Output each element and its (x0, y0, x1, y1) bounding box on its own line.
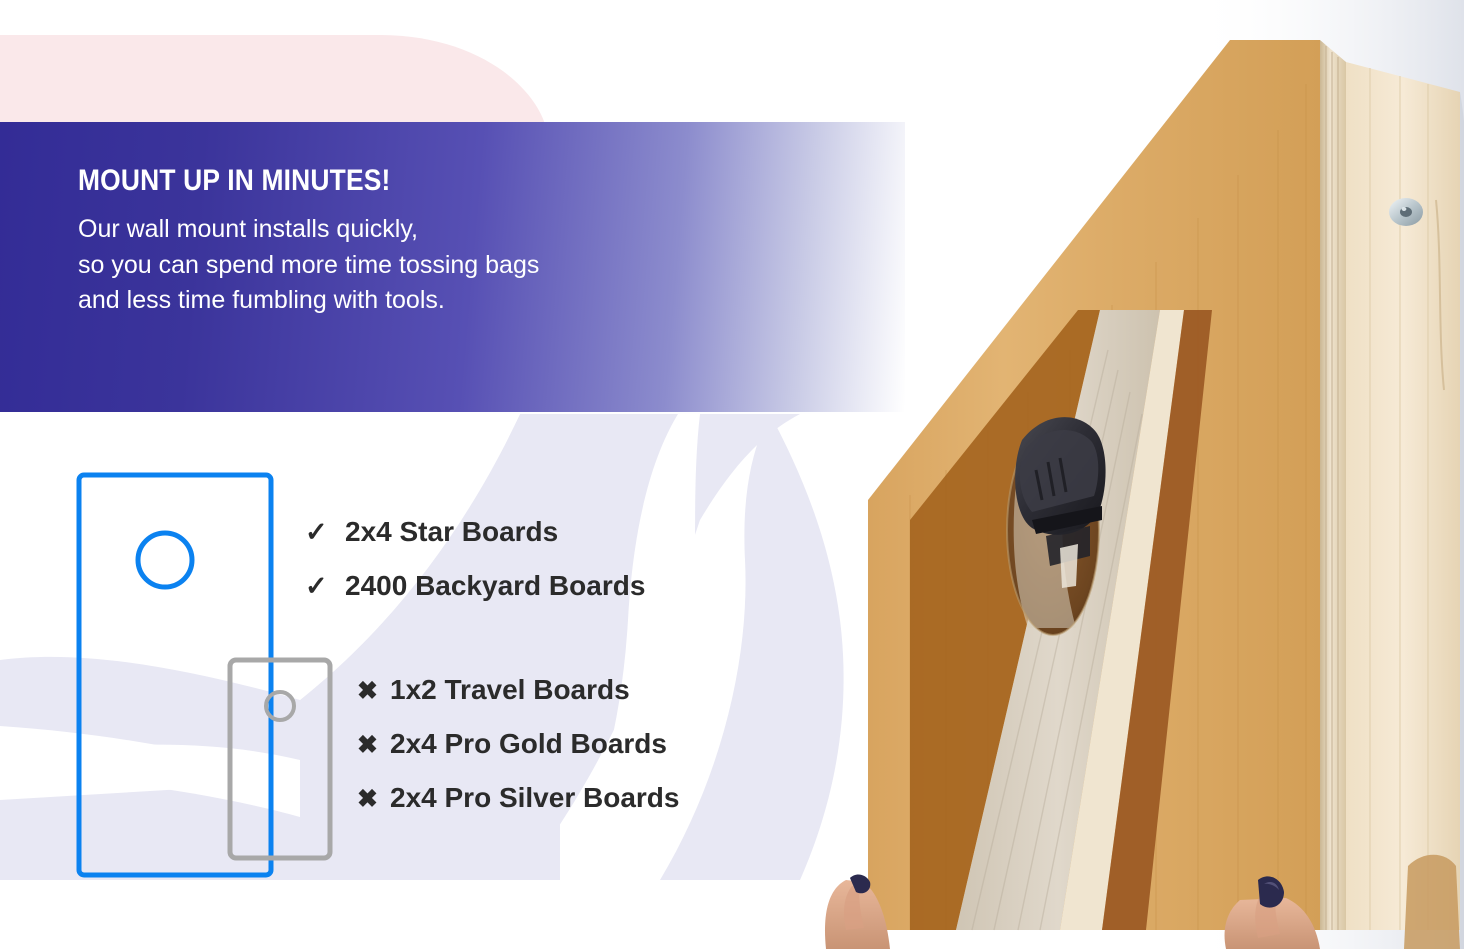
board-back-panel (1346, 62, 1460, 930)
page-title: MOUNT UP IN MINUTES! (78, 164, 806, 198)
small-board-outline (230, 660, 330, 858)
supported-board-list: ✓ 2x4 Star Boards ✓ 2400 Backyard Boards (305, 516, 645, 624)
unsupported-board-list: ✖ 1x2 Travel Boards ✖ 2x4 Pro Gold Board… (357, 674, 679, 836)
cross-icon: ✖ (357, 676, 390, 706)
subline-3: and less time fumbling with tools. (78, 283, 905, 319)
list-item: ✖ 1x2 Travel Boards (357, 674, 679, 706)
list-item-label: 1x2 Travel Boards (390, 674, 630, 706)
list-item: ✖ 2x4 Pro Gold Boards (357, 728, 679, 760)
subline-1: Our wall mount installs quickly, (78, 212, 905, 248)
subline-2: so you can spend more time tossing bags (78, 248, 905, 284)
list-item-label: 2400 Backyard Boards (345, 570, 645, 602)
lower-cutout (1404, 855, 1460, 949)
list-item-label: 2x4 Pro Silver Boards (390, 782, 679, 814)
promo-graphic: MOUNT UP IN MINUTES! Our wall mount inst… (0, 0, 1464, 949)
list-item: ✖ 2x4 Pro Silver Boards (357, 782, 679, 814)
large-board-hole (138, 533, 192, 587)
check-icon: ✓ (305, 571, 345, 602)
pink-band-shape (0, 35, 545, 124)
cross-icon: ✖ (357, 730, 390, 760)
list-item: ✓ 2400 Backyard Boards (305, 570, 645, 602)
cross-icon: ✖ (357, 784, 390, 814)
list-item-label: 2x4 Star Boards (345, 516, 558, 548)
list-item-label: 2x4 Pro Gold Boards (390, 728, 667, 760)
mounting-washer (1389, 198, 1423, 226)
board-shadow (1460, 92, 1464, 949)
list-item: ✓ 2x4 Star Boards (305, 516, 645, 548)
plywood-edge (1320, 40, 1346, 930)
check-icon: ✓ (305, 517, 345, 548)
headline-banner: MOUNT UP IN MINUTES! Our wall mount inst… (0, 122, 905, 412)
